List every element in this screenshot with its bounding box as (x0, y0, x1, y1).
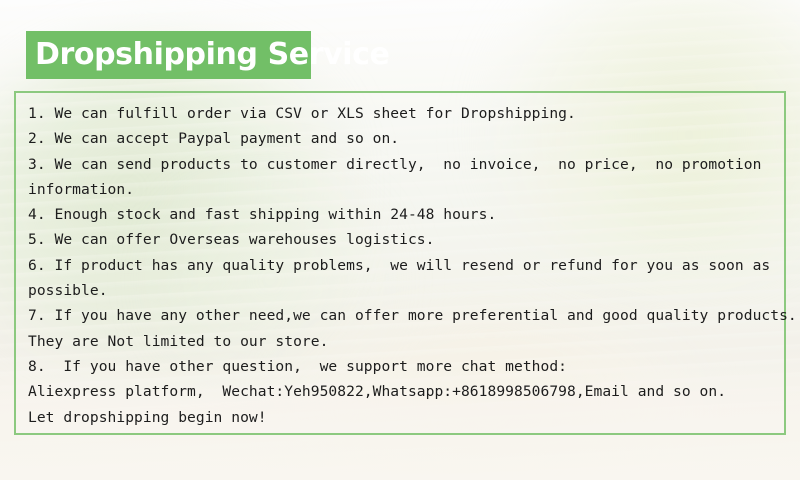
service-term-line: 7. If you have any other need,we can off… (28, 303, 776, 328)
service-term-line: 3. We can send products to customer dire… (28, 152, 776, 177)
service-term-line: 8. If you have other question, we suppor… (28, 354, 776, 379)
service-term-line: 4. Enough stock and fast shipping within… (28, 202, 776, 227)
service-term-line: information. (28, 177, 776, 202)
service-terms-box: 1. We can fulfill order via CSV or XLS s… (14, 91, 786, 435)
service-term-line: Aliexpress platform, Wechat:Yeh950822,Wh… (28, 379, 776, 404)
service-term-line: possible. (28, 278, 776, 303)
service-terms-list: 1. We can fulfill order via CSV or XLS s… (28, 101, 776, 430)
service-term-line: They are Not limited to our store. (28, 329, 776, 354)
service-term-line: 1. We can fulfill order via CSV or XLS s… (28, 101, 776, 126)
service-term-line: 2. We can accept Paypal payment and so o… (28, 126, 776, 151)
service-term-line: 5. We can offer Overseas warehouses logi… (28, 227, 776, 252)
page-title: Dropshipping Service (35, 40, 390, 70)
title-banner: Dropshipping Service (26, 31, 311, 79)
service-term-line: Let dropshipping begin now! (28, 405, 776, 430)
promo-banner-page: Dropshipping Service 1. We can fulfill o… (0, 0, 800, 480)
service-term-line: 6. If product has any quality problems, … (28, 253, 776, 278)
